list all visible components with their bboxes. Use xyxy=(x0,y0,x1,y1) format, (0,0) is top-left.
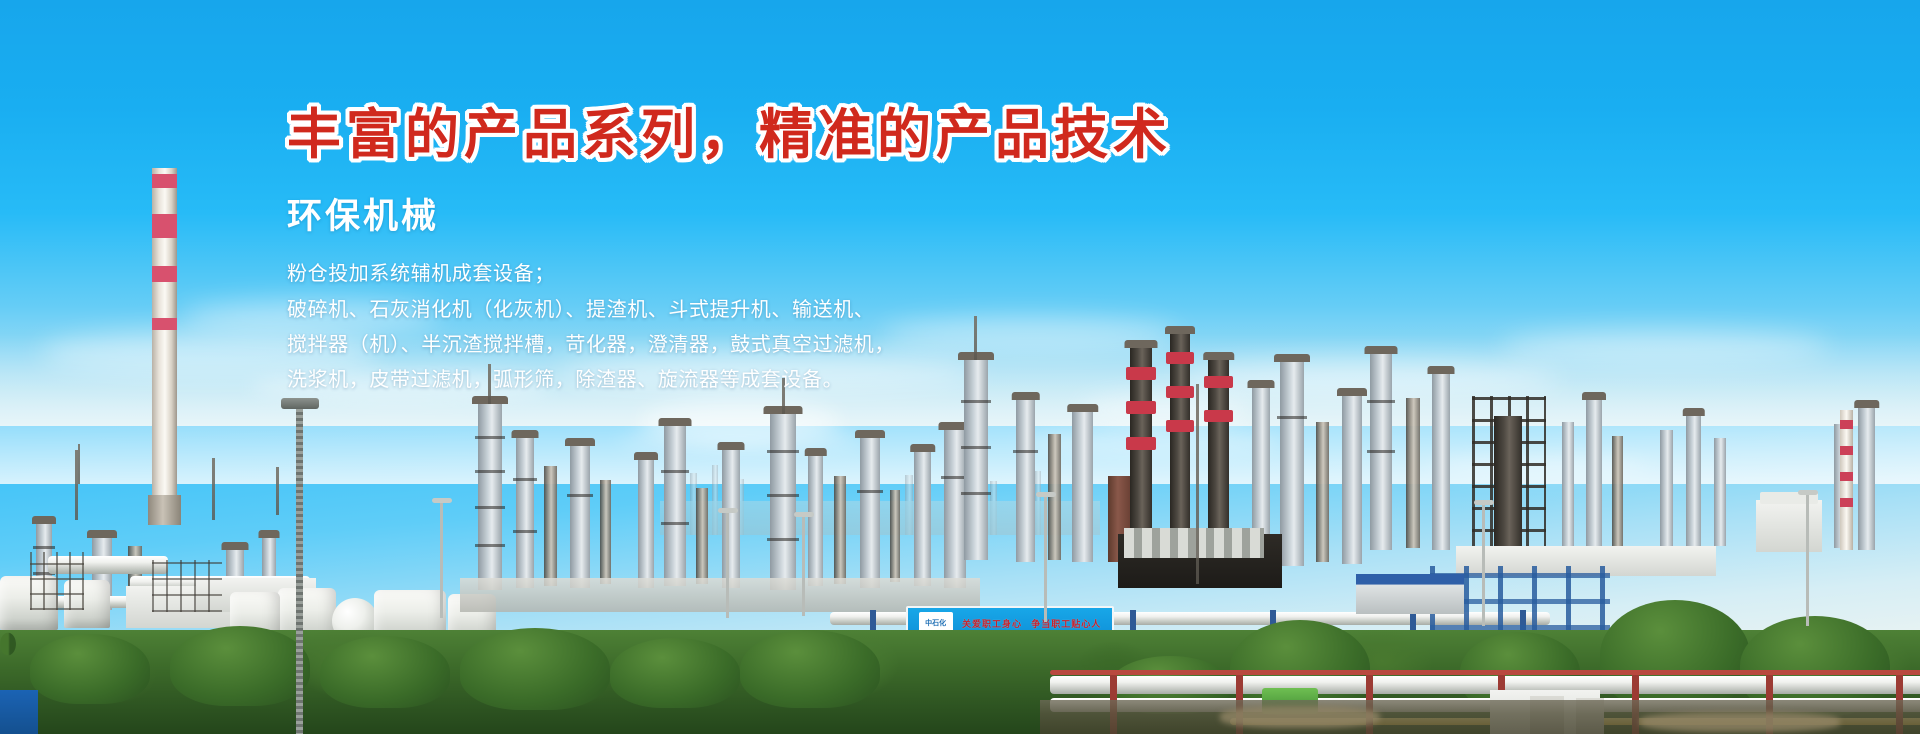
ground-patch xyxy=(1640,712,1840,732)
blue-roof-building xyxy=(1356,574,1464,614)
light-pole xyxy=(726,508,729,618)
section-subtitle: 环保机械 xyxy=(287,188,1227,239)
page-title: 丰富的产品系列，精准的产品技术 xyxy=(287,106,1227,164)
light-pole xyxy=(1806,490,1809,626)
blue-container xyxy=(0,690,38,734)
ground-patch xyxy=(1220,706,1380,728)
product-description: 粉仓投加系统辅机成套设备； 破碎机、石灰消化机（化灰机）、提渣机、斗式提升机、输… xyxy=(287,258,1227,395)
bush xyxy=(740,630,880,708)
light-pole xyxy=(802,512,805,616)
description-line-4: 洗浆机，皮带过滤机，弧形筛，除渣器、旋流器等成套设备。 xyxy=(287,364,1227,394)
description-line-2: 破碎机、石灰消化机（化灰机）、提渣机、斗式提升机、输送机、 xyxy=(287,294,1227,324)
smokestack-right xyxy=(1840,410,1853,550)
bush xyxy=(460,628,610,710)
light-pole xyxy=(1482,500,1485,626)
flood-light-mast xyxy=(296,406,303,734)
hero-banner: 中石化 关爱职工身心 争当职工贴心人 xyxy=(0,0,1920,734)
light-pole xyxy=(1044,492,1047,622)
bush xyxy=(320,636,450,708)
description-line-3: 搅拌器（机）、半沉渣搅拌槽，苛化器，澄清器，鼓式真空过滤机， xyxy=(287,329,1227,359)
light-pole xyxy=(440,498,443,618)
description-line-1: 粉仓投加系统辅机成套设备； xyxy=(287,258,1227,288)
bush xyxy=(30,634,150,704)
bush xyxy=(170,626,310,706)
hero-copy: 丰富的产品系列，精准的产品技术 环保机械 粉仓投加系统辅机成套设备； 破碎机、石… xyxy=(287,106,1227,400)
antenna-mast xyxy=(1196,384,1199,584)
bush xyxy=(610,638,740,708)
